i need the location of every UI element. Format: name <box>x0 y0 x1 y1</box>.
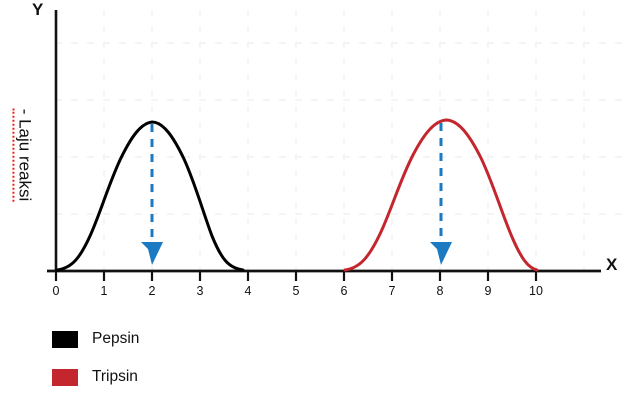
x-tick-label: 6 <box>341 284 348 298</box>
x-axis-label: X <box>606 255 617 275</box>
x-tick-label: 9 <box>485 284 492 298</box>
legend-item-pepsin: Pepsin <box>52 324 139 354</box>
x-tick-label: 4 <box>245 284 252 298</box>
grid-lines <box>55 10 631 271</box>
arrowhead-tripsin <box>430 242 452 265</box>
x-tick-label: 0 <box>53 284 60 298</box>
x-tick-label: 5 <box>293 284 300 298</box>
legend-item-tripsin: Tripsin <box>52 362 139 392</box>
y-axis-title-container: - Laju reaksi <box>10 85 36 225</box>
legend-label-tripsin: Tripsin <box>92 369 138 385</box>
annotation-arrow-pepsin <box>141 124 163 265</box>
legend-swatch-pepsin <box>52 331 78 348</box>
chart-legend: Pepsin Tripsin <box>52 324 139 400</box>
y-axis-label: Y <box>32 0 43 20</box>
arrowhead-pepsin <box>141 242 163 265</box>
x-tick-label: 2 <box>149 284 156 298</box>
legend-label-pepsin: Pepsin <box>92 331 139 347</box>
x-tick-label: 3 <box>197 284 204 298</box>
x-tick-label: 10 <box>529 284 543 298</box>
x-tick-label: 7 <box>389 284 396 298</box>
x-axis-ticks <box>56 271 536 281</box>
y-axis-title: - Laju reaksi <box>13 109 34 202</box>
legend-swatch-tripsin <box>52 369 78 386</box>
annotation-arrow-tripsin <box>430 123 452 265</box>
x-tick-label: 1 <box>101 284 108 298</box>
x-tick-label: 8 <box>437 284 444 298</box>
chart-canvas: Y X - Laju reaksi 0 1 2 3 4 5 6 7 8 9 10… <box>0 0 631 400</box>
